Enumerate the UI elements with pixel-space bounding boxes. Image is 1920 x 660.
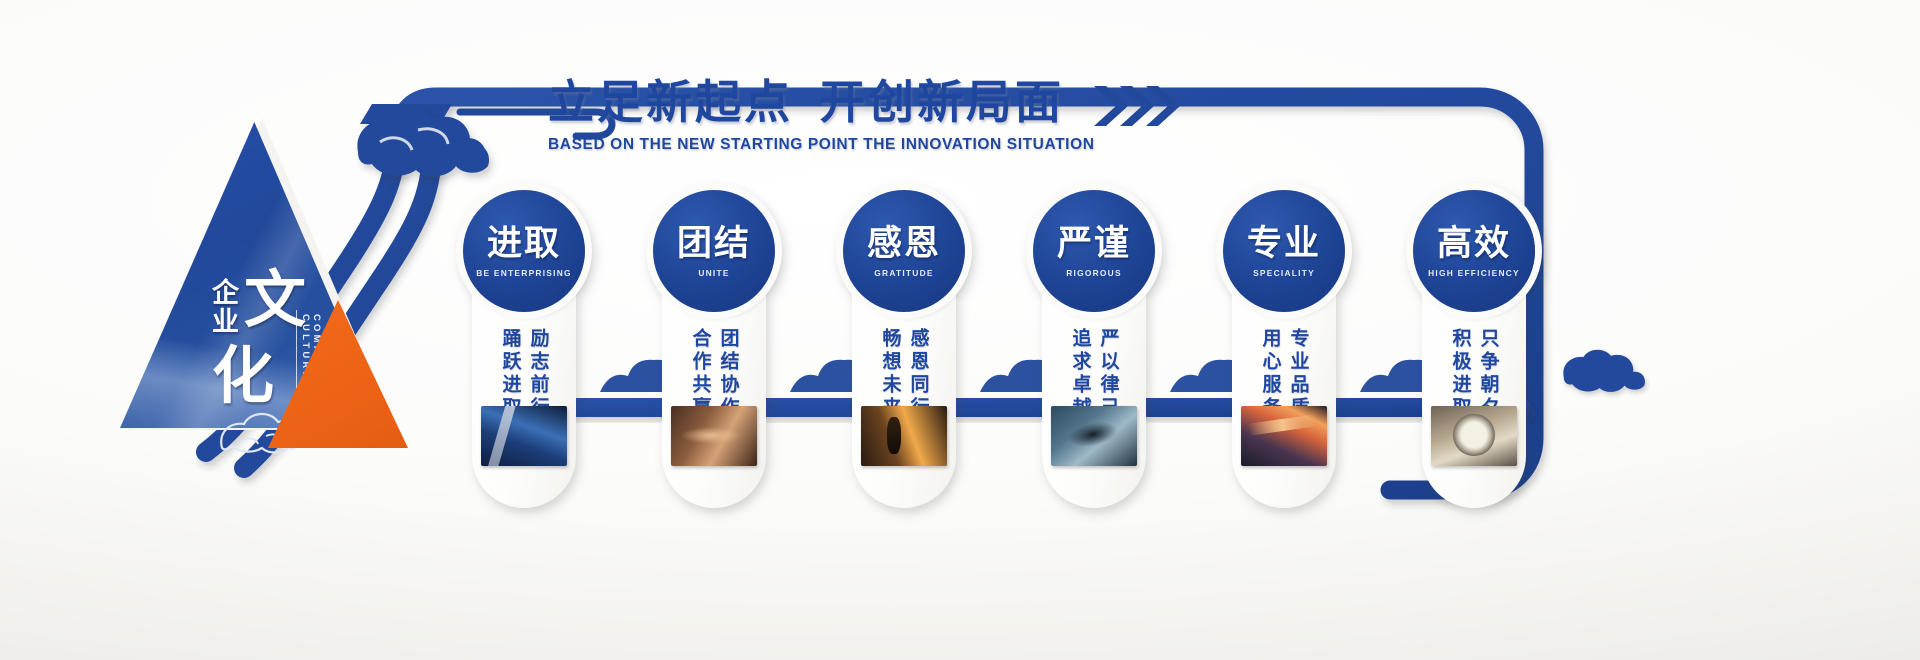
value-en-label: BE ENTERPRISING xyxy=(476,268,572,278)
value-badge[interactable]: 团结UNITE xyxy=(653,190,775,312)
value-badge[interactable]: 感恩GRATITUDE xyxy=(843,190,965,312)
value-en-label: SPECIALITY xyxy=(1253,268,1315,278)
value-pill[interactable]: 专业SPECIALITY专业品质用心服务 xyxy=(1232,196,1336,508)
value-cn-label: 感恩 xyxy=(867,225,941,263)
value-pill[interactable]: 团结UNITE团结协作合作共赢 xyxy=(662,196,766,508)
value-cn-label: 严谨 xyxy=(1057,225,1131,263)
value-cn-label: 进取 xyxy=(487,225,561,263)
value-photo xyxy=(671,406,757,466)
culture-wall-scene: 企业 文 化 COMPANY CULTURE 立足新起点开创新局面 BASED … xyxy=(0,0,1920,660)
value-photo xyxy=(1241,406,1327,466)
photo-eagle-flight xyxy=(1051,406,1137,466)
photo-highway-dusk xyxy=(1241,406,1327,466)
logo-cn-hua: 化 xyxy=(212,346,276,406)
value-pill[interactable]: 高效HIGH EFFICIENCY只争朝夕积极进取 xyxy=(1422,196,1526,508)
logo-cn-wen: 文 xyxy=(244,270,308,330)
value-pill[interactable]: 严谨RIGOROUS严以律己追求卓越 xyxy=(1042,196,1146,508)
value-en-label: GRATITUDE xyxy=(874,268,933,278)
cloud-swirl-decor-right xyxy=(1563,350,1645,392)
value-photo xyxy=(861,406,947,466)
value-cn-label: 专业 xyxy=(1247,225,1321,263)
double-chevron-right-icon xyxy=(1094,84,1186,132)
value-badge[interactable]: 专业SPECIALITY xyxy=(1223,190,1345,312)
value-pill[interactable]: 进取BE ENTERPRISING励志前行踊跃进取 xyxy=(472,196,576,508)
value-badge[interactable]: 严谨RIGOROUS xyxy=(1033,190,1155,312)
headline-title: 立足新起点开创新局面 xyxy=(548,66,1108,132)
value-photo xyxy=(481,406,567,466)
value-pill[interactable]: 感恩GRATITUDE感恩同行畅想未来 xyxy=(852,196,956,508)
value-badge[interactable]: 进取BE ENTERPRISING xyxy=(463,190,585,312)
headline-title-right: 开创新局面 xyxy=(819,75,1064,129)
headline-subtitle: BASED ON THE NEW STARTING POINT THE INNO… xyxy=(548,136,1108,154)
photo-sunset-figure xyxy=(861,406,947,466)
value-en-label: UNITE xyxy=(698,268,729,278)
value-en-label: HIGH EFFICIENCY xyxy=(1428,268,1520,278)
value-cn-label: 高效 xyxy=(1437,225,1511,263)
value-cn-label: 团结 xyxy=(677,225,751,263)
photo-climbing-ice xyxy=(481,406,567,466)
value-badge[interactable]: 高效HIGH EFFICIENCY xyxy=(1413,190,1535,312)
headline-title-left: 立足新起点 xyxy=(548,75,793,129)
value-en-label: RIGOROUS xyxy=(1066,268,1122,278)
headline-block: 立足新起点开创新局面 BASED ON THE NEW STARTING POI… xyxy=(548,66,1108,154)
value-photo xyxy=(1051,406,1137,466)
photo-handshake-hands xyxy=(671,406,757,466)
logo-cn-small: 企业 xyxy=(208,278,238,336)
photo-pocket-watch xyxy=(1431,406,1517,466)
value-photo xyxy=(1431,406,1517,466)
